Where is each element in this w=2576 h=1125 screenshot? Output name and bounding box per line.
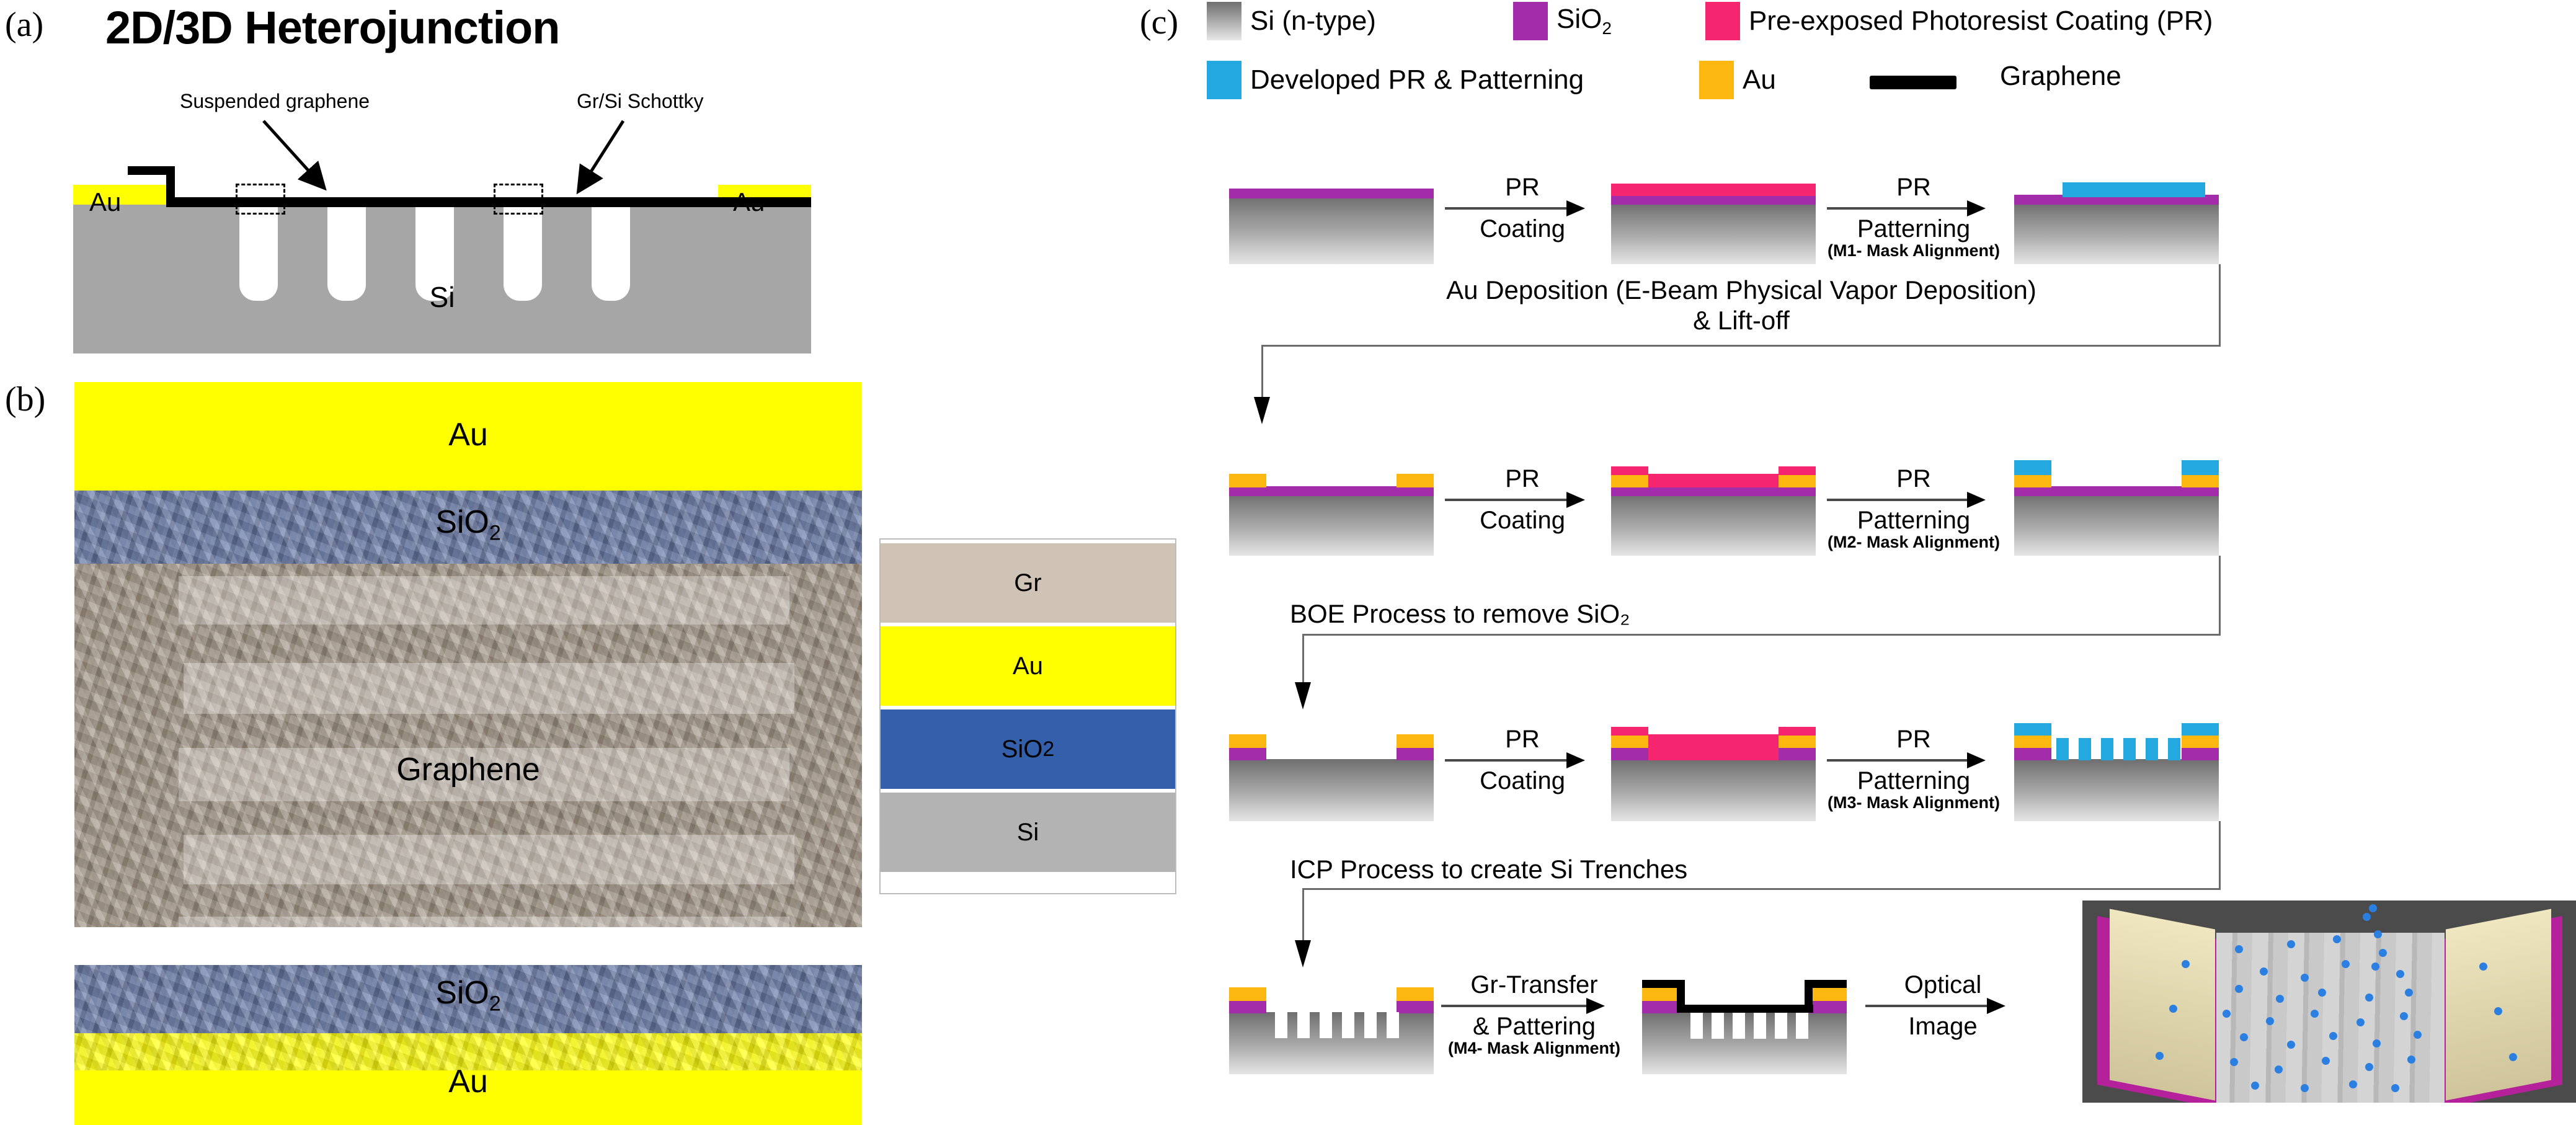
si-trench [1275, 1012, 1287, 1038]
pr-stripe [2123, 738, 2136, 760]
graphene-riser-left [1677, 980, 1685, 1006]
au-pad-left [2014, 474, 2051, 487]
sio2-left [1611, 747, 1648, 760]
sio2-top-text: SiO [435, 504, 489, 540]
arrow-label-bottom: Coating [1445, 508, 1600, 533]
panel-c: (c) Si (n-type) SiO2 Pre-exposed Photore… [1135, 0, 2576, 1125]
graphene-suspended [1677, 1005, 1813, 1013]
au-pad-right [1779, 474, 1816, 487]
suspended-graphene-marker [236, 184, 285, 215]
arrow-label-bottom: Coating [1445, 216, 1600, 242]
sio2-layer [1229, 486, 1434, 496]
connector-line-1: BOE Process to remove SiO₂ [1290, 599, 1848, 629]
layer-au-top-label: Au [74, 416, 862, 453]
legend-si-label: Si [1017, 819, 1039, 847]
graphene-text: Graphene [396, 752, 540, 788]
si-layer [1229, 196, 1434, 264]
arrow-label-bottom: Patterning [1827, 216, 2001, 242]
legend-swatch-pr [1705, 2, 1740, 40]
legend-swatch-au-c [1699, 61, 1734, 99]
arrow-label-top: Optical [1865, 972, 2020, 998]
pr-stripe [2056, 738, 2069, 760]
arrow-line [1865, 998, 2020, 1014]
arrow-label-top: PR [1445, 727, 1600, 752]
arrow-note: (M4- Mask Alignment) [1441, 1039, 1627, 1057]
sio2-right [1397, 1000, 1434, 1013]
graphene-riser-right [1805, 980, 1813, 1006]
wafer-r2-s2 [1611, 466, 1816, 556]
pr-over-au-left [1611, 727, 1648, 736]
sio2-top-sub: 2 [489, 521, 501, 545]
arrow-note: (M1- Mask Alignment) [1827, 242, 2001, 259]
arrow-label-bottom: Patterning [1827, 768, 2001, 794]
arrow-label-bottom: Patterning [1827, 508, 2001, 533]
pr-over-au-right [1779, 727, 1816, 736]
si-trench [1297, 1012, 1310, 1038]
wafer-r2-s1 [1229, 471, 1434, 556]
sio2-right [2182, 747, 2219, 760]
developed-pr-layer [2063, 182, 2205, 197]
graphene-stripe [179, 576, 789, 625]
arrow-r3-a1[interactable]: PR Coating [1445, 727, 1600, 794]
legend-label-si-ntype: Si (n-type) [1250, 6, 1376, 37]
au-pad-left [1229, 474, 1266, 487]
legend-item-si-ntype: Si (n-type) [1207, 2, 1376, 40]
legend-gr-label: Gr [1014, 569, 1041, 597]
legend-item-au: Au [1699, 61, 1776, 99]
connector-icp-label: ICP Process to create Si Trenches [1290, 855, 1972, 885]
legend-swatch-developed-pr [1207, 61, 1241, 99]
wafer-r4-s2 [1642, 972, 1847, 1074]
si-layer [1229, 759, 1434, 821]
sio2-layer [1229, 189, 1434, 198]
connector-line-1: ICP Process to create Si Trenches [1290, 855, 1972, 885]
arrow-r1-a1[interactable]: PR Coating [1445, 175, 1600, 242]
panel-b: (b) Au SiO2 Graphene SiO2 [0, 377, 862, 1125]
sio2-layer [1611, 195, 1816, 205]
arrow-r2-a1[interactable]: PR Coating [1445, 466, 1600, 533]
sio2-left [1229, 1000, 1266, 1013]
graphene-stripe [184, 835, 794, 884]
legend-label-sio2-c: SiO2 [1557, 4, 1612, 38]
au-pad-right [2182, 474, 2219, 487]
si-layer [1229, 494, 1434, 556]
optical-electrode-left [2110, 909, 2215, 1100]
arrow-line [1827, 200, 2001, 216]
panel-a: (a) 2D/3D Heterojunction Suspended graph… [0, 0, 881, 372]
legend-swatch-si-ntype [1207, 2, 1241, 40]
developed-pr-right [2182, 460, 2219, 475]
connector-boe-label: BOE Process to remove SiO₂ [1290, 599, 1848, 629]
developed-pr-left [2014, 723, 2051, 736]
layer-au-bottom-label: Au [74, 1063, 862, 1100]
au-label-left: Au [89, 187, 121, 217]
pr-stripe [2168, 738, 2180, 760]
layer-sio2-bottom-label: SiO2 [74, 974, 862, 1016]
sio2-right [1810, 1000, 1847, 1013]
legend-item-pr: Pre-exposed Photoresist Coating (PR) [1705, 2, 2213, 40]
pr-stripe [2101, 738, 2113, 760]
layer-graphene-label: Graphene [74, 751, 862, 788]
graphene-tab [128, 166, 175, 175]
arrow-note: (M3- Mask Alignment) [1827, 794, 2001, 811]
arrow-note: (M2- Mask Alignment) [1827, 533, 2001, 551]
pr-middle [1648, 734, 1779, 760]
si-layer [2014, 494, 2219, 556]
legend-label-au-c: Au [1743, 64, 1776, 96]
arrow-line [1827, 752, 2001, 768]
arrow-line [1445, 752, 1600, 768]
au-pad-right [1397, 734, 1434, 748]
si-trench [1754, 1013, 1766, 1039]
arrow-line [1445, 200, 1600, 216]
si-trench [1364, 1012, 1377, 1038]
au-top-text: Au [448, 417, 488, 453]
wafer-r3-s1 [1229, 732, 1434, 821]
si-trench [1320, 1012, 1332, 1038]
arrow-line [1827, 492, 2001, 508]
si-trench [1712, 1013, 1724, 1039]
pr-stripe [2146, 738, 2158, 760]
graphene-over-au-right [1808, 980, 1847, 988]
si-layer [2014, 202, 2219, 264]
sio2-right [1779, 747, 1816, 760]
wafer-r4-s1 [1229, 981, 1434, 1074]
panel-b-letter: (b) [5, 380, 45, 419]
connector-line-1: Au Deposition (E-Beam Physical Vapor Dep… [1264, 275, 2219, 306]
legend-item-sio2: SiO2 [1513, 2, 1612, 40]
wafer-r2-s3 [2014, 466, 2219, 556]
legend-swatch-sio2: SiO2 [881, 709, 1175, 789]
panel-b-material-legend: Gr Au SiO2 Si [879, 538, 1176, 894]
panel-c-letter: (c) [1140, 2, 1178, 42]
si-trench [1733, 1013, 1745, 1039]
graphene-stripe [184, 663, 794, 714]
si-trench [1342, 1012, 1354, 1038]
legend-label-pr: Pre-exposed Photoresist Coating (PR) [1749, 6, 2213, 37]
si-layer [1611, 494, 1816, 556]
legend-swatch-si: Si [881, 793, 1175, 872]
au-pad-left [1229, 987, 1266, 1001]
si-trench [1387, 1012, 1399, 1038]
arrow-label-top: Gr-Transfer [1441, 972, 1627, 998]
arrow-label-top: PR [1827, 466, 2001, 492]
sio2-layer [1611, 486, 1816, 496]
panel-a-device-cross-section: Si Au Au [73, 149, 811, 354]
optical-electrode-right [2446, 909, 2551, 1100]
arrow-r3-a2[interactable]: PR Patterning (M3- Mask Alignment) [1827, 727, 2001, 811]
optical-image-render [2082, 900, 2576, 1103]
arrow-label-top: PR [1827, 727, 2001, 752]
sio2-left [1229, 747, 1266, 760]
arrow-line [1441, 998, 1627, 1014]
pr-layer [1611, 184, 1816, 196]
legend-label-graphene: Graphene [2000, 61, 2121, 92]
si-trench [1690, 1013, 1703, 1039]
pr-middle [1648, 474, 1779, 487]
legend-label-developed-pr: Developed PR & Patterning [1250, 64, 1584, 96]
wafer-r1-s1 [1229, 184, 1434, 264]
layer-sio2-top-label: SiO2 [74, 504, 862, 545]
wafer-r1-s3 [2014, 180, 2219, 264]
au-bottom-text: Au [448, 1064, 488, 1100]
au-pad-left [1229, 734, 1266, 748]
sio2-right [1397, 747, 1434, 760]
sio2-bottom-text: SiO [435, 975, 489, 1011]
au-pad-left [1642, 987, 1679, 1001]
legend-au-label: Au [1013, 652, 1043, 680]
suspended-graphene-label: Suspended graphene [180, 90, 370, 113]
si-layer [1611, 202, 1816, 264]
wafer-r3-s2 [1611, 727, 1816, 821]
sio2-bottom-sub: 2 [489, 992, 501, 1015]
au-label-right: Au [733, 187, 765, 217]
sio2-left [2014, 747, 2051, 760]
pr-stripe [2079, 738, 2091, 760]
legend-swatch-sio2-c [1513, 2, 1548, 40]
au-pad-right [2182, 734, 2219, 748]
legend-swatch-graphene-bar [1870, 76, 1956, 89]
si-substrate-label: Si [73, 280, 811, 314]
au-pad-left [2014, 734, 2051, 748]
developed-pr-right [2182, 723, 2219, 736]
arrow-r1-a2[interactable]: PR Patterning (M1- Mask Alignment) [1827, 175, 2001, 259]
legend-swatch-gr: Gr [881, 543, 1175, 623]
pr-over-au-right [1779, 466, 1816, 475]
connector-au-deposition-label: Au Deposition (E-Beam Physical Vapor Dep… [1264, 275, 2219, 336]
arrow-label-top: PR [1445, 466, 1600, 492]
arrow-label-bottom: Image [1865, 1014, 2020, 1039]
gr-si-schottky-label: Gr/Si Schottky [577, 90, 704, 113]
wafer-r3-s3 [2014, 727, 2219, 821]
wafer-r1-s2 [1611, 184, 1816, 264]
au-pad-right [1397, 987, 1434, 1001]
connector-line-2: & Lift-off [1264, 306, 2219, 336]
pr-over-au-left [1611, 466, 1648, 475]
si-trench [1796, 1013, 1808, 1039]
arrow-line [1445, 492, 1600, 508]
graphene-stripe [179, 917, 789, 965]
au-pad-right [1397, 474, 1434, 487]
arrow-r2-a2[interactable]: PR Patterning (M2- Mask Alignment) [1827, 466, 2001, 551]
arrow-label-top: PR [1445, 175, 1600, 200]
sio2-layer [2014, 486, 2219, 496]
panel-b-layer-stack: Au SiO2 Graphene SiO2 Au [74, 382, 862, 1125]
arrow-label-bottom: & Pattering [1441, 1014, 1627, 1039]
au-pad-right [1779, 734, 1816, 748]
au-pad-left [1611, 734, 1648, 748]
arrow-r4-a1[interactable]: Gr-Transfer & Pattering (M4- Mask Alignm… [1441, 972, 1627, 1057]
legend-swatch-au: Au [881, 626, 1175, 706]
legend-item-developed-pr: Developed PR & Patterning [1207, 61, 1584, 99]
legend-item-graphene: Graphene [1870, 61, 2121, 92]
sio2-left [1642, 1000, 1679, 1013]
si-layer [1611, 759, 1816, 821]
au-pad-right [1810, 987, 1847, 1001]
si-trench [1775, 1013, 1787, 1039]
au-pad-left [1611, 474, 1648, 487]
legend-sio2-sub: 2 [1042, 737, 1054, 762]
gr-si-schottky-marker [494, 184, 543, 215]
arrow-label-top: PR [1827, 175, 2001, 200]
graphene-over-au-left [1642, 980, 1681, 988]
panel-a-letter: (a) [5, 5, 43, 45]
arrow-label-bottom: Coating [1445, 768, 1600, 794]
developed-pr-left [2014, 460, 2051, 475]
legend-sio2-label: SiO [1002, 736, 1043, 763]
optical-graphene-channel [2216, 933, 2445, 1103]
si-layer [2014, 759, 2219, 821]
arrow-r4-a2[interactable]: Optical Image [1865, 972, 2020, 1039]
panel-a-title: 2D/3D Heterojunction [105, 1, 559, 54]
